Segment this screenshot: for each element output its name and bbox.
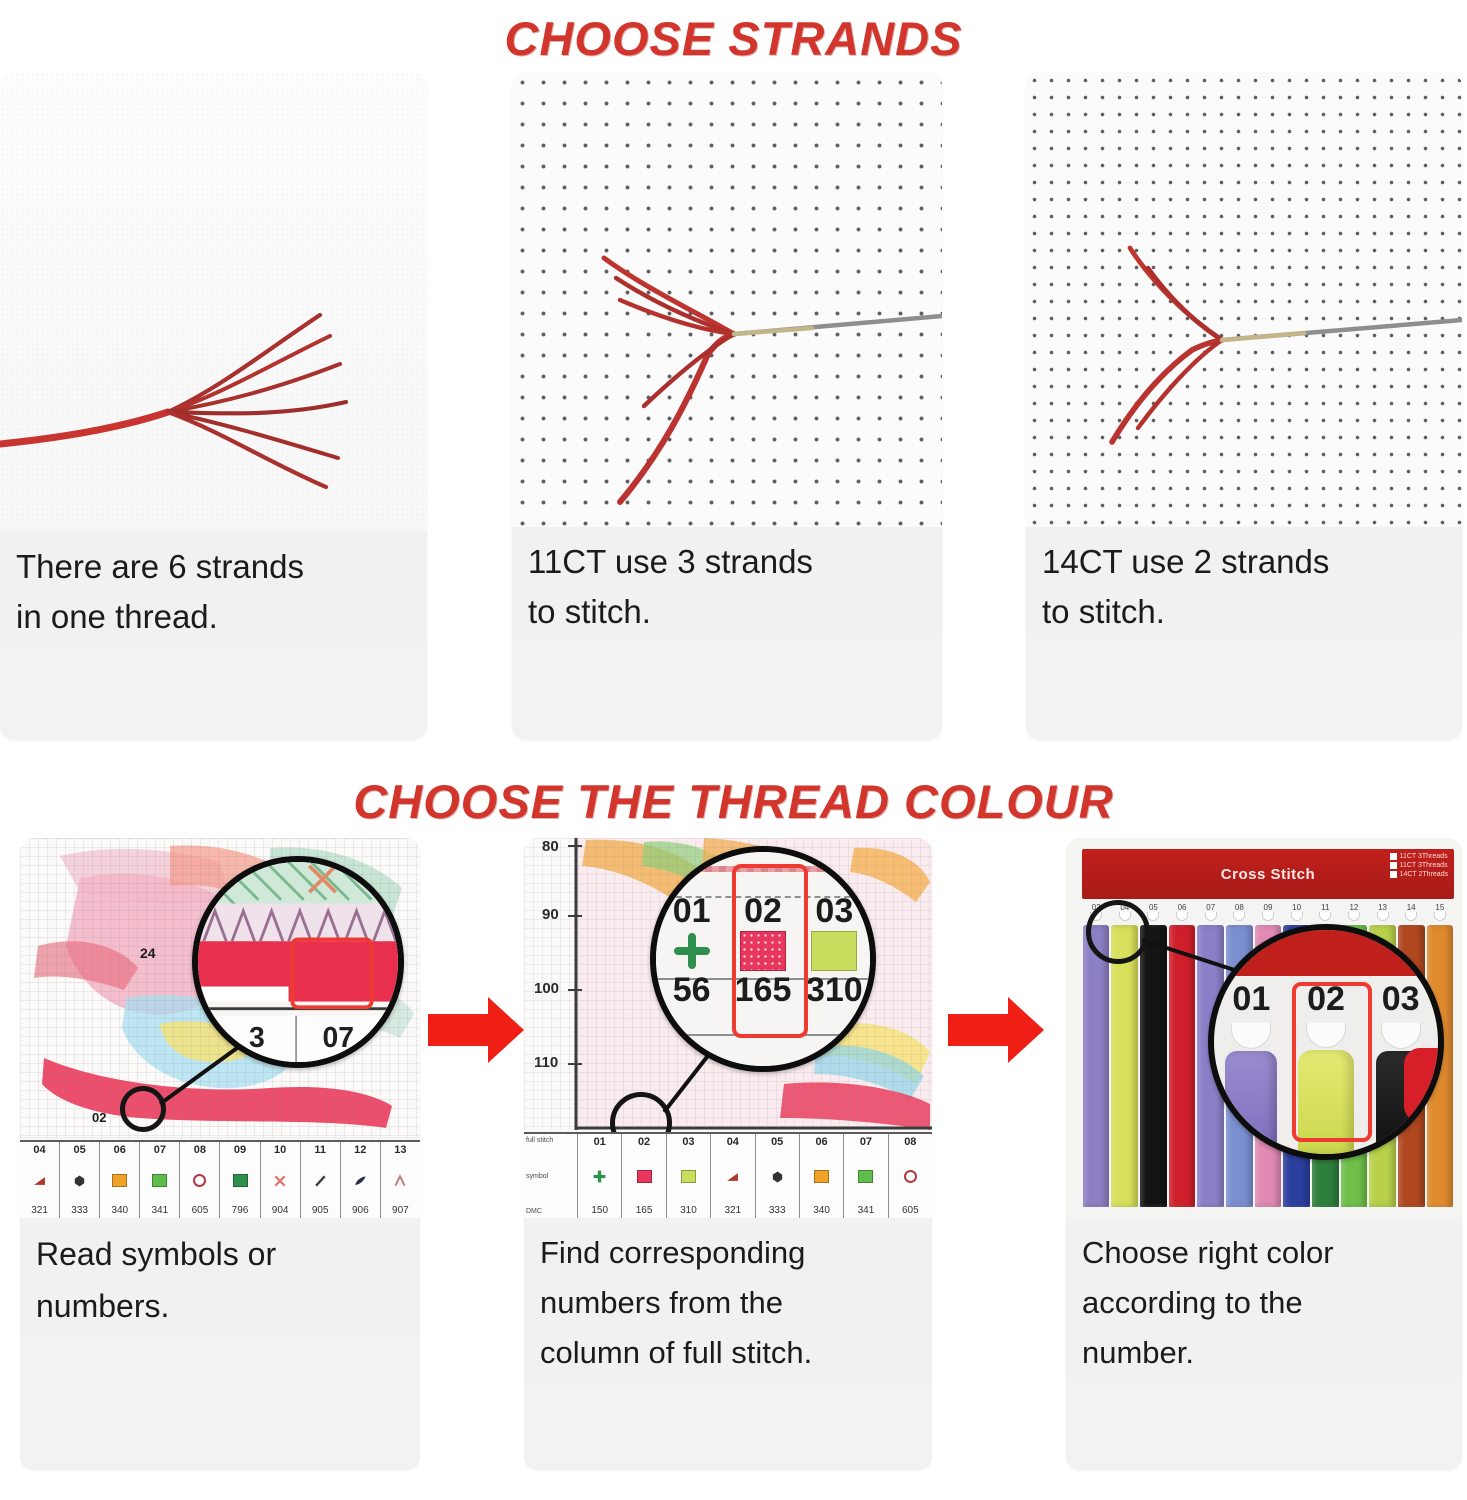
green-square-icon (857, 1169, 874, 1184)
legend-cell[interactable]: 09796 (220, 1142, 260, 1218)
legend-row-label: full stitch (526, 1136, 575, 1145)
open-circle-icon (902, 1169, 919, 1184)
legend-cell[interactable]: 06340 (800, 1134, 844, 1218)
photo-needle-threaded-on-11ct-aida (512, 72, 942, 527)
legend-column-number: 08 (904, 1136, 916, 1148)
legend-cell[interactable]: 10904 (261, 1142, 301, 1218)
slot-hole-icon (1231, 1023, 1271, 1049)
legend-thread-code: 321 (31, 1205, 48, 1217)
caption-read-symbols: Read symbols or numbers. (20, 1218, 420, 1332)
magnifier-source-circle (1086, 900, 1150, 964)
caption-line-1: There are 6 strands (16, 542, 411, 592)
legend-cell[interactable]: 13907 (381, 1142, 420, 1218)
legend-thread-code: 906 (352, 1205, 369, 1217)
legend-column-number: 05 (771, 1136, 783, 1148)
page-title-choose-thread-colour: CHOOSE THE THREAD COLOUR (0, 762, 1467, 838)
slot-hole-icon (1348, 912, 1360, 921)
caption-line-1: Choose right color (1082, 1228, 1446, 1278)
card-choose-color: Cross Stitch 11CT 3Threads 11CT 3Threads (1066, 838, 1462, 1470)
organiser-slot-number: 09 (1264, 903, 1273, 912)
organiser-slot-number: 10 (1292, 903, 1301, 912)
organiser-slot-number: 12 (1349, 903, 1358, 912)
caption-line-1: Find corresponding (540, 1228, 916, 1278)
magnifier-lens: 3 07 (192, 856, 404, 1068)
caption-line-2: numbers from the (540, 1278, 916, 1328)
legend-column-number: 10 (274, 1144, 286, 1156)
legend-cell[interactable]: 08605 (889, 1134, 932, 1218)
organiser-checkbox-list: 11CT 3Threads 11CT 3Threads 14CT 2Thread… (1390, 853, 1449, 878)
legend-cell[interactable]: 06340 (100, 1142, 140, 1218)
photo-needle-threaded-on-14ct-aida (1026, 72, 1462, 527)
legend-cell[interactable]: 02165 (622, 1134, 666, 1218)
legend-cell[interactable]: 07341 (140, 1142, 180, 1218)
slot-hole-icon (1377, 912, 1389, 921)
organiser-title: Cross Stitch (1221, 866, 1315, 883)
photo-thread-organiser-card-with-magnifier: Cross Stitch 11CT 3Threads 11CT 3Threads (1066, 838, 1462, 1218)
organiser-slot-number: 11 (1321, 903, 1329, 912)
card-six-strands: There are 6 strands in one thread. (0, 72, 427, 740)
arrow-shaft (428, 1014, 490, 1046)
checkbox-icon (1390, 871, 1397, 878)
arrow-right-icon-1 (428, 996, 532, 1064)
legend-column-number: 03 (682, 1136, 694, 1148)
chart-marker-24: 24 (140, 945, 156, 961)
caption-line-3: column of full stitch. (540, 1328, 916, 1378)
magnifier-lens: 01 56 02 165 (650, 846, 876, 1072)
filled-hex-icon (769, 1169, 786, 1184)
card-read-symbols: 24 02 (20, 838, 420, 1470)
card-find-numbers: 80 90 100 110 01 (524, 838, 932, 1470)
thread-skein[interactable] (1111, 925, 1138, 1206)
legend-thread-code: 150 (591, 1205, 608, 1217)
light-green-square-symbol (811, 931, 857, 971)
card-14ct-two-strands: 14CT use 2 strands to stitch. (1026, 72, 1462, 740)
legend-column-number: 06 (815, 1136, 827, 1148)
checkbox-label: 14CT 2Threads (1400, 871, 1449, 878)
plus-cross-icon (591, 1169, 608, 1184)
axis-label-110: 110 (534, 1054, 558, 1071)
caption-11ct-three-strands: 11CT use 3 strands to stitch. (512, 527, 942, 637)
legend-thread-code: 341 (151, 1205, 168, 1217)
legend-thread-code: 333 (71, 1205, 88, 1217)
legend-column-number: 02 (638, 1136, 650, 1148)
svg-text:07: 07 (323, 1021, 354, 1053)
legend-cell[interactable]: 01150 (578, 1134, 622, 1218)
caption-find-numbers: Find corresponding numbers from the colu… (524, 1218, 932, 1378)
legend-thread-code: 333 (769, 1205, 786, 1217)
slot-hole-icon (1262, 912, 1274, 921)
triangle-flag-icon (31, 1173, 48, 1188)
light-green-square-icon (680, 1169, 697, 1184)
legend-column-number: 11 (314, 1144, 326, 1156)
magnified-header-band (1214, 930, 1438, 976)
magnified-legend-detail: 01 56 02 165 (656, 852, 870, 1066)
caption-six-strands: There are 6 strands in one thread. (0, 532, 427, 642)
legend-column-number: 04 (727, 1136, 739, 1148)
organiser-slot-number: 07 (1206, 903, 1215, 912)
legend-thread-code: 905 (312, 1205, 329, 1217)
full-stitch-legend-strip: full stitchsymbolDMC01150021650331004321… (524, 1132, 932, 1218)
legend-column-number: 06 (114, 1144, 126, 1156)
legend-column-number: 07 (154, 1144, 166, 1156)
column-code: 310 (806, 971, 863, 1010)
diagonal-slash-icon (312, 1173, 329, 1188)
arrow-head (488, 997, 524, 1063)
caption-line-2: in one thread. (16, 592, 411, 642)
organiser-slot-number: 15 (1435, 903, 1444, 912)
caption-line-2: numbers. (36, 1280, 404, 1332)
legend-thread-code: 605 (192, 1205, 209, 1217)
caption-line-2: according to the (1082, 1278, 1446, 1328)
highlight-box-column-02 (1292, 982, 1372, 1142)
legend-thread-code: 321 (724, 1205, 741, 1217)
triangle-flag-icon (724, 1169, 741, 1184)
legend-thread-code: 340 (813, 1205, 830, 1217)
page-title-choose-strands: CHOOSE STRANDS (0, 0, 1467, 72)
legend-thread-code: 341 (858, 1205, 875, 1217)
arrow-right-icon-2 (948, 996, 1052, 1064)
green-square-icon (151, 1173, 168, 1188)
legend-cell[interactable]: 11905 (301, 1142, 341, 1218)
column-number: 01 (673, 892, 711, 931)
slot-hole-icon (1405, 912, 1417, 921)
organiser-check-1: 11CT 3Threads (1390, 853, 1449, 860)
legend-cell[interactable]: 04321 (20, 1142, 60, 1218)
magnified-pattern-detail: 3 07 (198, 862, 398, 1062)
caption-line-2: to stitch. (528, 587, 926, 637)
slot-hole-icon (1434, 912, 1446, 921)
open-circle-icon (191, 1173, 208, 1188)
organiser-slot-number: 08 (1235, 903, 1244, 912)
caption-line-1: Read symbols or (36, 1228, 404, 1280)
orange-square-icon (111, 1173, 128, 1188)
thread-skein[interactable] (1140, 925, 1167, 1206)
organiser-slot-number: 05 (1149, 903, 1158, 912)
caption-choose-color: Choose right color according to the numb… (1066, 1218, 1462, 1378)
checkbox-icon (1390, 862, 1397, 869)
six-strand-thread-illustration (0, 72, 427, 532)
legend-cell[interactable]: 08605 (180, 1142, 220, 1218)
caption-line-1: 11CT use 3 strands (528, 537, 926, 587)
organiser-check-2: 11CT 3Threads (1390, 862, 1449, 869)
magnified-red-thread-edge (1404, 1048, 1438, 1122)
magnified-thread-detail: 01 02 03 (1214, 930, 1438, 1154)
red-square-icon (636, 1169, 653, 1184)
column-code: 56 (673, 971, 711, 1010)
svg-text:3: 3 (249, 1021, 265, 1053)
legend-cell[interactable]: 03310 (667, 1134, 711, 1218)
caption-line-2: to stitch. (1042, 587, 1446, 637)
slot-hole-icon (1319, 912, 1331, 921)
legend-thread-code: 310 (680, 1205, 697, 1217)
caption-14ct-two-strands: 14CT use 2 strands to stitch. (1026, 527, 1462, 637)
column-number: 01 (1232, 980, 1270, 1019)
arrow-head (1008, 997, 1044, 1063)
caption-line-1: 14CT use 2 strands (1042, 537, 1446, 587)
photo-printed-pattern-chart-with-magnifier: 24 02 (20, 838, 420, 1218)
legend-column-number: 08 (194, 1144, 206, 1156)
legend-column-number: 07 (860, 1136, 872, 1148)
column-number: 03 (1382, 980, 1420, 1019)
plus-cross-symbol (669, 931, 715, 971)
axis-label-90: 90 (542, 906, 559, 923)
slot-hole-icon (1233, 912, 1245, 921)
legend-row-label: symbol (526, 1172, 575, 1181)
highlight-box-column-02 (732, 864, 808, 1038)
magnified-legend-column-01: 01 56 (656, 862, 727, 1040)
legend-column-number: 09 (234, 1144, 246, 1156)
legend-thread-code: 340 (111, 1205, 128, 1217)
organiser-header-banner: Cross Stitch 11CT 3Threads 11CT 3Threads (1082, 849, 1454, 898)
chart-marker-02: 02 (92, 1110, 106, 1125)
thread-colour-card-row: 24 02 (0, 838, 1467, 1482)
photo-pattern-chart-column-legend-with-magnifier: 80 90 100 110 01 (524, 838, 932, 1218)
orange-square-icon (813, 1169, 830, 1184)
legend-cell[interactable]: 05333 (60, 1142, 100, 1218)
strands-card-row: There are 6 strands in one thread. (0, 72, 1467, 762)
needle-and-two-strands-illustration (1026, 72, 1462, 527)
legend-thread-code: 904 (272, 1205, 289, 1217)
photo-thread-splitting-into-six-strands (0, 72, 427, 532)
magnifier-source-circle (120, 1086, 166, 1132)
column-number: 03 (815, 892, 853, 931)
leaf-icon (352, 1173, 369, 1188)
checkbox-label: 11CT 3Threads (1400, 862, 1448, 869)
slot-hole-icon (1147, 912, 1159, 921)
legend-thread-code: 907 (392, 1205, 409, 1217)
legend-cell[interactable]: 05333 (756, 1134, 800, 1218)
legend-column-number: 04 (33, 1144, 45, 1156)
symbol-legend-strip: 0432105333063400734108605097961090411905… (20, 1140, 420, 1218)
legend-column-number: 13 (394, 1144, 406, 1156)
legend-row-label: DMC (526, 1207, 575, 1216)
legend-column-number: 05 (74, 1144, 86, 1156)
thread-organiser-card: Cross Stitch 11CT 3Threads 11CT 3Threads (1066, 838, 1462, 1218)
legend-thread-code: 796 (232, 1205, 249, 1217)
thread-skein[interactable] (1083, 925, 1110, 1206)
checkbox-icon (1390, 853, 1397, 860)
checkbox-label: 11CT 3Threads (1400, 853, 1448, 860)
axis-label-100: 100 (534, 980, 559, 997)
legend-thread-code: 165 (636, 1205, 653, 1217)
x-cross-icon (272, 1173, 289, 1188)
legend-cell[interactable]: 12906 (341, 1142, 381, 1218)
magnifier-lens: 01 02 03 (1208, 924, 1444, 1160)
needle-and-three-strands-illustration (512, 72, 942, 527)
organiser-slot-number: 13 (1378, 903, 1387, 912)
slot-hole-icon (1176, 912, 1188, 921)
legend-row-labels: full stitchsymbolDMC (524, 1134, 578, 1218)
arrow-shaft (948, 1014, 1010, 1046)
thread-skein[interactable] (1169, 925, 1196, 1206)
legend-cell[interactable]: 04321 (711, 1134, 755, 1218)
thread-skein (1225, 1051, 1277, 1151)
slot-hole-icon (1381, 1023, 1421, 1049)
axis-label-80: 80 (542, 838, 559, 855)
caret-icon (392, 1173, 409, 1188)
legend-thread-code: 605 (902, 1205, 919, 1217)
card-11ct-three-strands: 11CT use 3 strands to stitch. (512, 72, 942, 740)
slot-hole-icon (1205, 912, 1217, 921)
legend-column-number: 01 (594, 1136, 606, 1148)
dark-green-square-icon (232, 1173, 249, 1188)
organiser-check-3: 14CT 2Threads (1390, 871, 1449, 878)
organiser-slot-number: 14 (1407, 903, 1416, 912)
organiser-slot-number: 06 (1178, 903, 1187, 912)
magnified-thread-column-01: 01 (1214, 976, 1289, 1154)
filled-hex-icon (71, 1173, 88, 1188)
magnified-legend-column-03: 03 310 (799, 862, 870, 1040)
caption-line-3: number. (1082, 1328, 1446, 1378)
slot-hole-icon (1291, 912, 1303, 921)
legend-cell[interactable]: 07341 (844, 1134, 888, 1218)
legend-column-number: 12 (354, 1144, 366, 1156)
